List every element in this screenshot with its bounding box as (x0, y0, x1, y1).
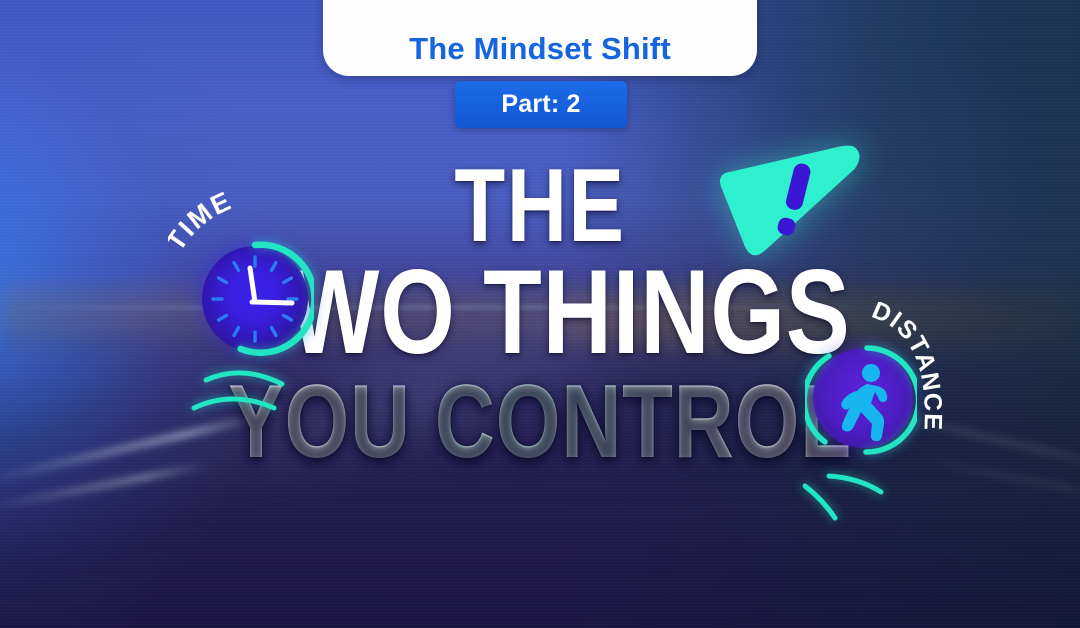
warning-exclamation-triangle-icon (714, 128, 864, 268)
poster-canvas: The Mindset Shift Part: 2 THE TWO THINGS… (0, 0, 1080, 628)
part-badge: Part: 2 (455, 81, 627, 128)
distance-label-text: DISTANCE (868, 302, 947, 432)
distance-label: DISTANCE (849, 302, 999, 472)
clock-ring (196, 240, 314, 358)
time-motion-arcs (190, 358, 306, 422)
part-badge-label: Part: 2 (501, 90, 580, 119)
distance-motion-arcs (797, 458, 917, 524)
time-badge-group: TIME (168, 192, 348, 427)
clock-icon (196, 240, 314, 358)
page-title: The Mindset Shift (409, 33, 671, 64)
svg-text:DISTANCE: DISTANCE (868, 302, 947, 432)
distance-badge-group: DISTANCE (795, 320, 995, 535)
header-tab: The Mindset Shift (323, 0, 757, 76)
